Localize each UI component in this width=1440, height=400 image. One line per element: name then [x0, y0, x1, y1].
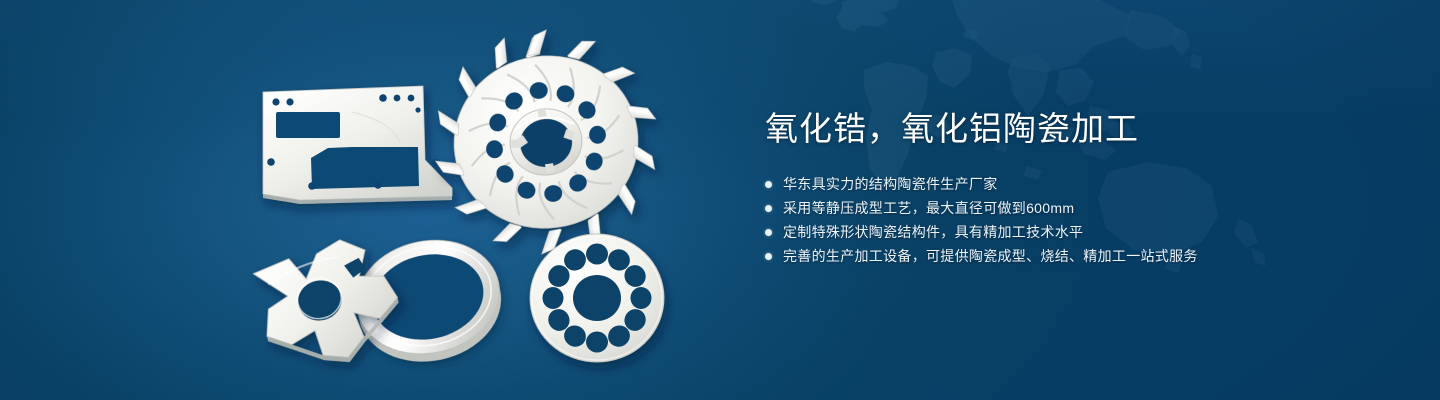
dot-bullet-icon — [765, 229, 772, 236]
feature-label: 华东具实力的结构陶瓷件生产厂家 — [783, 172, 998, 196]
feature-item: 采用等静压成型工艺，最大直径可做到600mm — [765, 196, 1385, 220]
dot-bullet-icon — [765, 181, 772, 188]
banner-text-block: 氧化锆，氧化铝陶瓷加工 华东具实力的结构陶瓷件生产厂家 采用等静压成型工艺，最大… — [765, 108, 1385, 268]
hero-banner: 氧化锆，氧化铝陶瓷加工 华东具实力的结构陶瓷件生产厂家 采用等静压成型工艺，最大… — [0, 0, 1440, 400]
dot-bullet-icon — [765, 253, 772, 260]
dot-bullet-icon — [765, 205, 772, 212]
banner-headline: 氧化锆，氧化铝陶瓷加工 — [765, 108, 1385, 150]
feature-label: 采用等静压成型工艺，最大直径可做到600mm — [783, 196, 1074, 220]
banner-feature-list: 华东具实力的结构陶瓷件生产厂家 采用等静压成型工艺，最大直径可做到600mm 定… — [765, 172, 1385, 268]
feature-label: 定制特殊形状陶瓷结构件，具有精加工技术水平 — [783, 220, 1083, 244]
feature-item: 华东具实力的结构陶瓷件生产厂家 — [765, 172, 1385, 196]
feature-item: 定制特殊形状陶瓷结构件，具有精加工技术水平 — [765, 220, 1385, 244]
feature-label: 完善的生产加工设备，可提供陶瓷成型、烧结、精加工一站式服务 — [783, 244, 1198, 268]
feature-item: 完善的生产加工设备，可提供陶瓷成型、烧结、精加工一站式服务 — [765, 244, 1385, 268]
